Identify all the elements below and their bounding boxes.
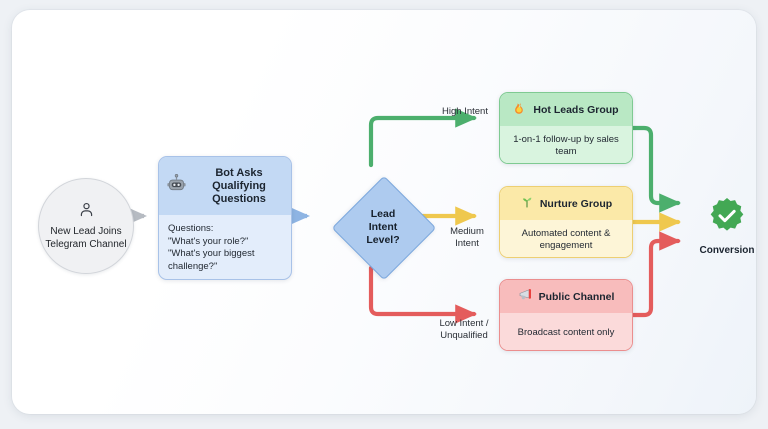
hot-card-body: 1-on-1 follow-up by sales team <box>500 126 632 164</box>
public-card-title: Public Channel <box>539 291 615 303</box>
megaphone-icon <box>518 287 533 307</box>
flowchart-diagram: High Intent Medium Intent Low Intent / U… <box>12 10 756 414</box>
public-card-header: Public Channel <box>500 280 632 313</box>
edge-label-medium-intent: Medium Intent <box>425 226 509 250</box>
conversion-label: Conversion <box>699 245 754 256</box>
hot-card-header: Hot Leads Group <box>500 93 632 126</box>
node-lead-intent-label: Lead Intent Level? <box>334 178 432 276</box>
screenshot-stage: High Intent Medium Intent Low Intent / U… <box>0 0 768 429</box>
public-card-body: Broadcast content only <box>500 313 632 351</box>
edge-high-intent <box>371 118 474 165</box>
fire-icon <box>513 100 527 120</box>
node-nurture-group[interactable]: Nurture Group Automated content & engage… <box>499 186 633 258</box>
node-public-channel[interactable]: Public Channel Broadcast content only <box>499 279 633 351</box>
nurture-card-title: Nurture Group <box>540 198 612 210</box>
verified-check-badge-icon <box>707 196 747 241</box>
node-bot-asks-qualifying-questions[interactable]: Bot Asks Qualifying Questions Questions:… <box>158 156 292 280</box>
person-icon <box>78 201 95 223</box>
node-new-lead-label: New Lead Joins Telegram Channel <box>39 226 133 251</box>
seedling-icon <box>520 194 534 214</box>
hot-card-title: Hot Leads Group <box>533 104 618 116</box>
node-new-lead-start[interactable]: New Lead Joins Telegram Channel <box>38 178 134 274</box>
node-conversion[interactable]: Conversion <box>692 196 756 256</box>
nurture-card-header: Nurture Group <box>500 187 632 220</box>
node-hot-leads-group[interactable]: Hot Leads Group 1-on-1 follow-up by sale… <box>499 92 633 164</box>
bot-card-body: Questions: "What's your role?" "What's y… <box>159 215 291 273</box>
diagram-canvas-card: High Intent Medium Intent Low Intent / U… <box>12 10 756 414</box>
bot-card-header: Bot Asks Qualifying Questions <box>159 157 291 215</box>
robot-icon <box>166 173 187 199</box>
nurture-card-body: Automated content & engagement <box>500 220 632 258</box>
bot-card-title: Bot Asks Qualifying Questions <box>194 167 284 206</box>
node-lead-intent-decision[interactable]: Lead Intent Level? <box>334 178 432 276</box>
